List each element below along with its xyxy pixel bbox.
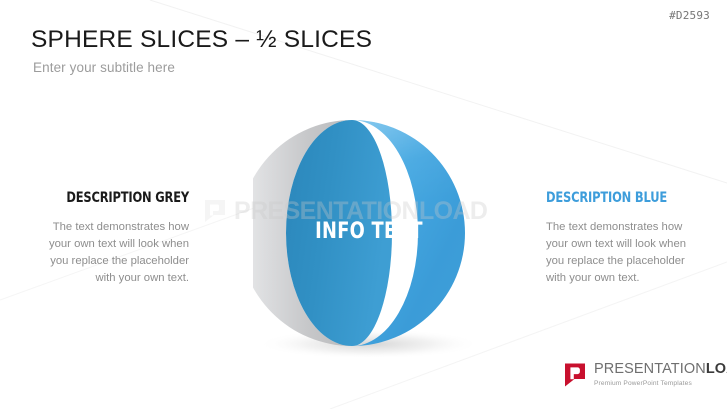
sphere-diagram[interactable] [253,112,485,357]
brand-name: PRESENTATIONLOAD® [594,362,727,377]
description-block-blue: DESCRIPTION BLUE The text demonstrates h… [546,190,698,288]
description-block-grey: DESCRIPTION GREY The text demonstrates h… [37,190,189,288]
slide-id: #D2593 [669,9,710,22]
brand-logo: PRESENTATIONLOAD® Premium PowerPoint Tem… [564,362,727,387]
brand-tagline: Premium PowerPoint Templates [594,381,727,388]
description-body-grey: The text demonstrates how your own text … [37,219,189,288]
brand-textblock: PRESENTATIONLOAD® Premium PowerPoint Tem… [594,362,727,387]
watermark-bubble-icon [203,199,227,223]
brand-name-light: PRESENTATION [594,361,706,377]
description-heading-blue: DESCRIPTION BLUE [546,190,680,206]
brand-name-bold: LOAD [706,361,727,377]
slide-canvas: #D2593 SPHERE SLICES – ½ SLICES Enter yo… [0,0,727,409]
page-title: SPHERE SLICES – ½ SLICES [31,26,372,54]
presentationload-bubble-icon [564,363,586,387]
page-subtitle: Enter your subtitle here [33,60,175,75]
description-heading-grey: DESCRIPTION GREY [55,190,189,206]
description-body-blue: The text demonstrates how your own text … [546,219,698,288]
